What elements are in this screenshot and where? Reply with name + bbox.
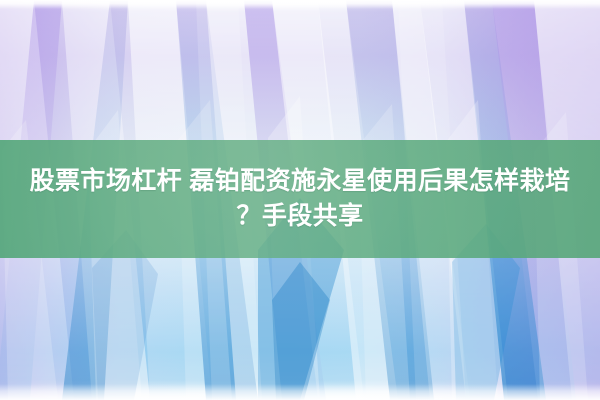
bottom-white-fade — [0, 384, 600, 400]
article-banner: 股票市场杠杆 磊铂配资施永星使用后果怎样栽培 ？手段共享 — [0, 0, 600, 400]
top-white-fade — [0, 0, 600, 9]
headline-line-2: ？手段共享 — [236, 199, 363, 235]
headline-line-1: 股票市场杠杆 磊铂配资施永星使用后果怎样栽培 — [30, 164, 571, 200]
headline-band: 股票市场杠杆 磊铂配资施永星使用后果怎样栽培 ？手段共享 — [0, 140, 600, 258]
